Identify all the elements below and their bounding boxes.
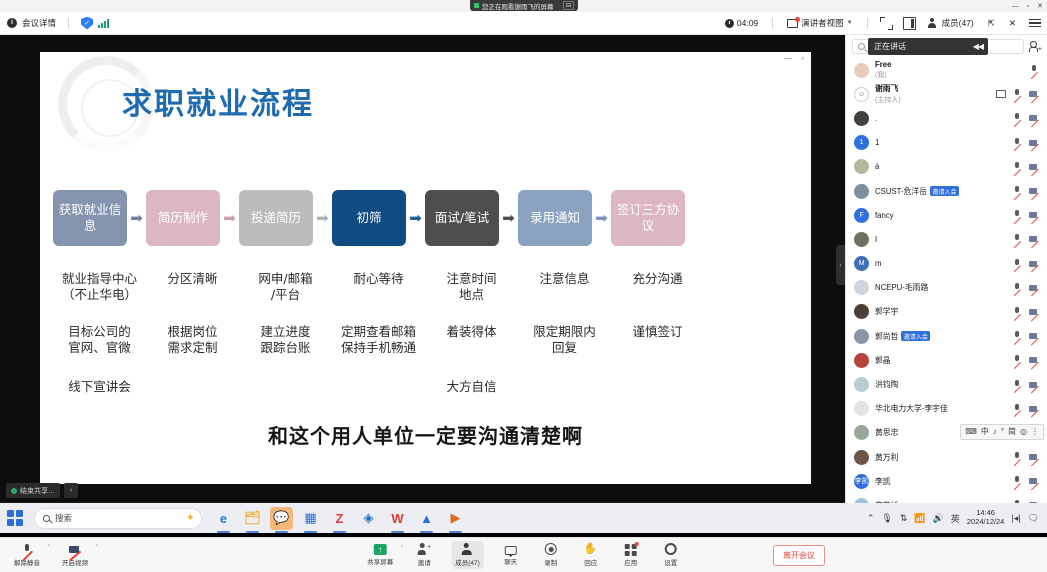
participant-name-wrap: 郭学宇 bbox=[875, 306, 1006, 317]
close-panel-icon[interactable]: ✕ bbox=[1002, 18, 1023, 29]
participant-row[interactable]: Mm bbox=[846, 252, 1047, 276]
divider bbox=[867, 18, 868, 29]
camera-off-icon[interactable] bbox=[1029, 162, 1040, 172]
note-r2-c3: 建立进度跟踪台账 bbox=[239, 324, 332, 357]
note-r2-c6: 限定期限内回复 bbox=[518, 324, 611, 357]
tencent-meeting-icon[interactable]: ▦ bbox=[299, 507, 322, 530]
mic-off-icon[interactable] bbox=[1012, 259, 1023, 269]
mic-off-icon[interactable] bbox=[1012, 380, 1023, 390]
flow-step-4: 初筛 bbox=[332, 190, 406, 246]
copilot-icon[interactable]: ✦ bbox=[186, 513, 195, 524]
note-r2-c2: 根据岗位需求定制 bbox=[146, 324, 239, 357]
note-r3-c6 bbox=[518, 379, 611, 395]
chevron-up-icon[interactable]: ⌃ bbox=[47, 544, 51, 550]
camera-off-icon[interactable] bbox=[1029, 138, 1040, 148]
participant-name-wrap: fancy bbox=[875, 211, 1006, 220]
participant-name: 谢雨飞 bbox=[875, 83, 898, 94]
participant-name: fancy bbox=[875, 211, 894, 220]
tray-chevron-icon[interactable]: ⌃ bbox=[867, 513, 875, 524]
participant-name-wrap: 李凯 bbox=[875, 476, 1006, 487]
avatar bbox=[854, 353, 869, 368]
note-r1-c5: 注意时间地点 bbox=[425, 271, 518, 304]
participant-row[interactable]: Free(我) bbox=[846, 58, 1047, 82]
speaking-tooltip-text: 正在讲话 bbox=[874, 41, 906, 52]
participant-name: 黄思忠 bbox=[875, 427, 898, 438]
avatar bbox=[854, 377, 869, 392]
process-flow-row: 获取就业信息➡简历制作➡投递简历➡初筛➡面试/笔试➡录用通知➡签订三方协议 bbox=[53, 190, 798, 246]
microphone-icon[interactable]: 🎙 bbox=[881, 513, 892, 524]
ime-key-3[interactable]: ♪ bbox=[993, 428, 997, 436]
avatar: F bbox=[854, 208, 869, 223]
info-icon[interactable]: i bbox=[7, 18, 17, 28]
screen-share-toast: 您正在观看谢雨飞的屏幕 ⊟ bbox=[470, 0, 578, 11]
divider bbox=[772, 18, 773, 29]
windows-start-icon[interactable] bbox=[7, 510, 24, 527]
top-bar-right: 04:09 演讲者视图 ▼ 成员(47) ⇱ ✕ bbox=[718, 17, 1047, 30]
participant-row[interactable]: NCEPU-毛雨路 bbox=[846, 276, 1047, 300]
participant-row[interactable]: 洪钧陶 bbox=[846, 372, 1047, 396]
participant-name: à bbox=[875, 162, 879, 171]
participant-status-icons bbox=[1012, 283, 1040, 293]
wps-icon[interactable]: W bbox=[386, 507, 409, 530]
participant-name-wrap: 华北电力大学-李宇佳 bbox=[875, 403, 1006, 414]
ime-indicator[interactable]: 英 bbox=[951, 512, 960, 525]
chat-icon bbox=[505, 546, 517, 555]
settings-gear-icon bbox=[664, 543, 678, 556]
toolbar-label: 邀请 bbox=[418, 557, 431, 567]
ime-floating-toolbar[interactable]: ⌨中♪°简◎⋮ bbox=[960, 424, 1044, 440]
participant-row[interactable]: Ffancy bbox=[846, 203, 1047, 227]
participant-status-icons bbox=[1012, 113, 1040, 123]
menu-icon[interactable] bbox=[1029, 19, 1041, 27]
note-r1-c1: 就业指导中心（不止华电） bbox=[53, 271, 146, 304]
flow-step-2: 简历制作 bbox=[146, 190, 220, 246]
flow-step-5: 面试/笔试 bbox=[425, 190, 499, 246]
note-r3-c4 bbox=[332, 379, 425, 395]
flow-arrow-icon: ➡ bbox=[406, 211, 425, 226]
meeting-toolbar: 解除静音⌃开启视频⌃ 共享屏幕⌃+邀请成员(47)聊天录制✋回应应用设置 离开会… bbox=[0, 537, 1047, 572]
outlook-icon[interactable]: ◈ bbox=[357, 507, 380, 530]
note-r3-c7 bbox=[611, 379, 704, 395]
avatar bbox=[854, 425, 869, 440]
top-bar-left: i 会议详情 bbox=[0, 17, 109, 30]
app-glyph: e bbox=[220, 511, 227, 526]
tray-date: 2024/12/24 bbox=[967, 517, 1005, 526]
participant-role: (主持人) bbox=[875, 97, 990, 105]
participant-name: I bbox=[875, 235, 877, 244]
participant-name: 华北电力大学-李宇佳 bbox=[875, 403, 948, 414]
app-glyph: ▦ bbox=[304, 510, 316, 526]
toolbar-chat[interactable]: 聊天 bbox=[498, 543, 524, 568]
participant-status-icons bbox=[1012, 476, 1040, 486]
chevron-up-icon[interactable]: ⌃ bbox=[95, 544, 99, 550]
app-glyph: ◈ bbox=[364, 510, 374, 526]
fullscreen-icon[interactable] bbox=[880, 17, 893, 30]
speaker-view-icon bbox=[787, 19, 798, 28]
participant-name: . bbox=[875, 114, 877, 123]
close-button[interactable]: ✕ bbox=[1037, 3, 1043, 10]
participant-row[interactable]: 11 bbox=[846, 131, 1047, 155]
mic-off-icon[interactable] bbox=[1012, 162, 1023, 172]
app-glyph: ▲ bbox=[420, 511, 433, 526]
taskbar-app-list: e🗂💬▦Z◈W▲▶ bbox=[212, 507, 467, 530]
notes-row-1: 就业指导中心（不止华电）分区清晰网申/邮箱/平台耐心等待注意时间地点注意信息充分… bbox=[53, 271, 798, 304]
notification-dot-icon bbox=[635, 542, 639, 546]
toolbar-reaction[interactable]: ✋回应 bbox=[578, 541, 604, 569]
toolbar-video-off[interactable]: 开启视频⌃ bbox=[58, 541, 92, 569]
chevron-up-icon[interactable]: ⌃ bbox=[400, 545, 404, 551]
participants-panel: + 正在讲话 ◀◀ Free(我)☺谢雨飞(主持人).11àCSUST-危洋岳邀… bbox=[845, 35, 1047, 537]
toolbar-members[interactable]: 成员(47) bbox=[451, 541, 484, 569]
camera-off-icon[interactable] bbox=[1029, 259, 1040, 269]
mic-off-icon[interactable] bbox=[1012, 452, 1023, 462]
slide-window-controls: — ▫ bbox=[40, 52, 811, 65]
participant-name-wrap: . bbox=[875, 114, 1006, 123]
flow-arrow-icon: ➡ bbox=[127, 211, 146, 226]
search-icon bbox=[858, 43, 865, 50]
camera-off-icon[interactable] bbox=[1029, 186, 1040, 196]
share-status-dot-icon bbox=[11, 488, 17, 494]
participant-status-icons bbox=[1012, 138, 1040, 148]
camera-off-icon[interactable] bbox=[1029, 476, 1040, 486]
stage-footer: 结束共享… ‹ bbox=[6, 483, 78, 498]
avatar bbox=[854, 184, 869, 199]
members-top-label: 成员(47) bbox=[942, 17, 974, 29]
participant-name-wrap: 谢雨飞(主持人) bbox=[875, 83, 990, 105]
camera-off-icon[interactable] bbox=[1029, 210, 1040, 220]
participant-status-icons bbox=[1012, 380, 1040, 390]
invite-icon: + bbox=[417, 543, 431, 556]
ime-key-1[interactable]: ⌨ bbox=[965, 428, 977, 436]
note-r3-c5: 大方自信 bbox=[425, 379, 518, 395]
meeting-details-label[interactable]: 会议详情 bbox=[22, 17, 56, 29]
participant-name: CSUST-危洋岳 bbox=[875, 186, 927, 197]
view-mode-selector[interactable]: 演讲者视图 ▼ bbox=[780, 17, 859, 29]
add-member-icon[interactable]: + bbox=[1029, 41, 1041, 53]
participant-role: (我) bbox=[875, 72, 1023, 80]
avatar bbox=[854, 401, 869, 416]
toolbar-label: 聊天 bbox=[504, 556, 517, 566]
ime-key-6[interactable]: ◎ bbox=[1020, 428, 1027, 436]
timer-text: 04:09 bbox=[737, 18, 758, 28]
note-r2-c4: 定期查看邮箱保持手机畅通 bbox=[332, 324, 425, 357]
mic-off-icon[interactable] bbox=[1012, 89, 1023, 99]
toolbar-label: 开启视频 bbox=[62, 557, 88, 567]
participant-name-wrap: CSUST-危洋岳邀请入会 bbox=[875, 186, 1006, 197]
participant-status-icons bbox=[1012, 234, 1040, 244]
notes-row-3: 线下宣讲会大方自信 bbox=[53, 379, 798, 395]
avatar: 李凯 bbox=[854, 474, 869, 489]
mic-off-icon bbox=[20, 543, 34, 556]
toolbar-label: 录制 bbox=[544, 557, 557, 567]
leave-meeting-button[interactable]: 离开会议 bbox=[773, 545, 825, 566]
camera-off-icon[interactable] bbox=[1029, 331, 1040, 341]
video-off-icon bbox=[68, 543, 82, 556]
taskbar-search-placeholder: 搜索 bbox=[55, 512, 72, 524]
ime-key-5[interactable]: 简 bbox=[1008, 428, 1016, 436]
mic-off-icon[interactable] bbox=[1012, 476, 1023, 486]
toolbar-label: 解除静音 bbox=[14, 557, 40, 567]
windows-taskbar: 搜索 ✦ e🗂💬▦Z◈W▲▶ ⌃ 🎙 ⇅ 📶 🔊 英 14:46 2024/12… bbox=[0, 503, 1047, 533]
participant-name: 郭学宇 bbox=[875, 306, 898, 317]
camera-off-icon[interactable] bbox=[1029, 307, 1040, 317]
participant-status-icons bbox=[1012, 355, 1040, 365]
participant-row[interactable]: . bbox=[846, 106, 1047, 130]
note-r1-c6: 注意信息 bbox=[518, 271, 611, 304]
file-explorer-icon[interactable]: 🗂 bbox=[241, 507, 264, 530]
participant-name: Free bbox=[875, 60, 891, 69]
mic-off-icon[interactable] bbox=[1012, 404, 1023, 414]
toolbar-invite[interactable]: +邀请 bbox=[411, 541, 437, 569]
ime-key-4[interactable]: ° bbox=[1001, 428, 1004, 436]
participant-status-icons bbox=[1012, 452, 1040, 462]
app-glyph: 💬 bbox=[273, 510, 289, 526]
notification-icon[interactable]: 🗨 bbox=[1028, 513, 1039, 524]
flow-step-7: 签订三方协议 bbox=[611, 190, 685, 246]
camera-off-icon[interactable] bbox=[1029, 452, 1040, 462]
participant-row[interactable]: ☺谢雨飞(主持人) bbox=[846, 82, 1047, 106]
note-r2-c5: 着装得体 bbox=[425, 324, 518, 357]
camera-off-icon[interactable] bbox=[1029, 283, 1040, 293]
participant-name: m bbox=[875, 259, 882, 268]
participant-name: 洪钧陶 bbox=[875, 379, 898, 390]
flow-arrow-icon: ➡ bbox=[220, 211, 239, 226]
flow-arrow-icon: ➡ bbox=[592, 211, 611, 226]
clock-area[interactable]: 14:46 2024/12/24 bbox=[967, 509, 1005, 526]
mic-off-icon[interactable] bbox=[1012, 138, 1023, 148]
search-icon bbox=[43, 515, 50, 522]
note-r2-c7: 谨慎签订 bbox=[611, 324, 704, 357]
slide-maximize-icon[interactable]: ▫ bbox=[801, 54, 804, 63]
note-r3-c1: 线下宣讲会 bbox=[53, 379, 146, 395]
participant-status-icons bbox=[1012, 186, 1040, 196]
participant-row[interactable]: 李凯李凯 bbox=[846, 469, 1047, 493]
camera-off-icon[interactable] bbox=[1029, 355, 1040, 365]
slide-caption: 和这个用人单位一定要沟通清楚啊 bbox=[40, 420, 811, 449]
avatar bbox=[854, 280, 869, 295]
note-r1-c3: 网申/邮箱/平台 bbox=[239, 271, 332, 304]
participant-row[interactable]: 郭晶 bbox=[846, 348, 1047, 372]
note-r1-c7: 充分沟通 bbox=[611, 271, 704, 304]
toolbar-record[interactable]: 录制 bbox=[538, 541, 564, 569]
mic-off-icon[interactable] bbox=[1012, 283, 1023, 293]
camera-off-icon[interactable] bbox=[1029, 113, 1040, 123]
note-r1-c2: 分区清晰 bbox=[146, 271, 239, 304]
toolbar-center-group: 共享屏幕⌃+邀请成员(47)聊天录制✋回应应用设置 bbox=[363, 541, 684, 569]
members-icon bbox=[928, 18, 939, 28]
avatar bbox=[854, 329, 869, 344]
note-r2-c1: 目标公司的官网、官微 bbox=[53, 324, 146, 357]
share-toast-text: 您正在观看谢雨飞的屏幕 bbox=[482, 1, 554, 11]
toolbar-share-screen[interactable]: 共享屏幕⌃ bbox=[363, 542, 397, 568]
avatar bbox=[854, 111, 869, 126]
mic-off-icon[interactable] bbox=[1029, 65, 1040, 75]
participant-name: 郭晶 bbox=[875, 355, 891, 366]
popout-icon[interactable]: ⇱ bbox=[981, 18, 1002, 29]
participant-row[interactable]: 郭学宇 bbox=[846, 300, 1047, 324]
participant-name-wrap: NCEPU-毛雨路 bbox=[875, 282, 1006, 293]
collapse-panel-handle[interactable]: ‹ bbox=[836, 245, 845, 285]
system-tray: ⌃ 🎙 ⇅ 📶 🔊 英 14:46 2024/12/24 |◂| 🗨 bbox=[867, 509, 1047, 526]
mic-off-icon[interactable] bbox=[1012, 307, 1023, 317]
invite-badge: 邀请入会 bbox=[930, 186, 959, 196]
minimize-button[interactable]: — bbox=[1012, 3, 1019, 10]
slide-title: 求职就业流程 bbox=[122, 79, 314, 123]
taskbar-search-box[interactable]: 搜索 ✦ bbox=[34, 508, 202, 529]
view-mode-label: 演讲者视图 bbox=[801, 17, 844, 29]
avatar bbox=[854, 232, 869, 247]
stop-share-button[interactable]: 结束共享… bbox=[6, 483, 60, 498]
meeting-window: — ▫ ✕ i 会议详情 04:09 演讲者视图 bbox=[0, 0, 1047, 537]
shield-check-icon[interactable] bbox=[81, 17, 93, 30]
zhihu-icon[interactable]: Z bbox=[328, 507, 351, 530]
avatar: ☺ bbox=[854, 87, 869, 102]
collapse-toast-icon[interactable]: ⊟ bbox=[563, 1, 574, 10]
reaction-icon: ✋ bbox=[584, 543, 598, 556]
flow-step-3: 投递简历 bbox=[239, 190, 313, 246]
share-screen-icon bbox=[374, 544, 387, 555]
baidu-netdisk-icon[interactable]: ▲ bbox=[415, 507, 438, 530]
slide-minimize-icon[interactable]: — bbox=[784, 54, 792, 63]
participant-row[interactable]: 郭尚哲邀请入会 bbox=[846, 324, 1047, 348]
participant-name: 黄万利 bbox=[875, 452, 898, 463]
avatar bbox=[854, 63, 869, 78]
toolbar-label: 应用 bbox=[624, 557, 637, 567]
side-panel-icon[interactable] bbox=[903, 17, 916, 30]
participant-name-wrap: m bbox=[875, 259, 1006, 268]
note-r3-c2 bbox=[146, 379, 239, 395]
mic-off-icon[interactable] bbox=[1012, 331, 1023, 341]
ime-key-2[interactable]: 中 bbox=[981, 428, 989, 436]
flow-step-6: 录用通知 bbox=[518, 190, 592, 246]
participant-status-icons bbox=[1012, 162, 1040, 172]
app-glyph: Z bbox=[336, 511, 344, 526]
mic-off-icon[interactable] bbox=[1012, 186, 1023, 196]
participant-name: 李凯 bbox=[875, 476, 891, 487]
signal-strength-icon[interactable] bbox=[98, 18, 109, 28]
participant-status-icons bbox=[996, 89, 1040, 99]
mic-off-icon[interactable] bbox=[1012, 210, 1023, 220]
participant-status-icons bbox=[1012, 259, 1040, 269]
ime-key-7[interactable]: ⋮ bbox=[1031, 428, 1039, 436]
screen-root: — ▫ ✕ i 会议详情 04:09 演讲者视图 bbox=[0, 0, 1047, 572]
maximize-button[interactable]: ▫ bbox=[1027, 3, 1029, 10]
participant-status-icons bbox=[1012, 210, 1040, 220]
participant-name-wrap: 1 bbox=[875, 138, 1006, 147]
recording-dot-icon bbox=[474, 3, 479, 8]
app-glyph: ▶ bbox=[451, 510, 461, 526]
avatar bbox=[854, 304, 869, 319]
toolbar-label: 共享屏幕 bbox=[367, 556, 393, 566]
participant-name-wrap: 郭尚哲邀请入会 bbox=[875, 331, 1006, 342]
participant-name-wrap: 洪钧陶 bbox=[875, 379, 1006, 390]
note-r3-c3 bbox=[239, 379, 332, 395]
participant-status-icons bbox=[1012, 307, 1040, 317]
mic-off-icon[interactable] bbox=[1012, 234, 1023, 244]
network-icon[interactable]: 📶 bbox=[914, 513, 925, 524]
app-glyph: W bbox=[391, 511, 403, 526]
meeting-timer: 04:09 bbox=[718, 18, 765, 28]
toolbar-left-group: 解除静音⌃开启视频⌃ bbox=[0, 541, 92, 569]
flow-arrow-icon: ➡ bbox=[499, 211, 518, 226]
avatar bbox=[854, 159, 869, 174]
presentation-slide: — ▫ 求职就业流程 获取就业信息➡简历制作➡投递简历➡初筛➡面试/笔试➡录用通… bbox=[40, 52, 811, 484]
toolbar-label: 成员(47) bbox=[455, 557, 480, 567]
sliders-icon[interactable]: ⇅ bbox=[900, 513, 908, 524]
toolbar-label: 设置 bbox=[664, 557, 677, 567]
record-icon bbox=[544, 543, 558, 556]
participant-name: 1 bbox=[875, 138, 879, 147]
participant-name-wrap: I bbox=[875, 235, 1006, 244]
speaking-tooltip: 正在讲话 ◀◀ bbox=[868, 38, 988, 55]
participant-row[interactable]: I bbox=[846, 227, 1047, 251]
chevron-down-icon: ▼ bbox=[847, 20, 853, 26]
participant-name-wrap: 郭晶 bbox=[875, 355, 1006, 366]
media-player-icon[interactable]: ▶ bbox=[444, 507, 467, 530]
participant-row[interactable]: à bbox=[846, 155, 1047, 179]
apps-icon bbox=[624, 543, 638, 556]
avatar: 1 bbox=[854, 135, 869, 150]
tooltip-chevrons-icon: ◀◀ bbox=[973, 42, 988, 51]
flow-arrow-icon: ➡ bbox=[313, 211, 332, 226]
members-top-button[interactable]: 成员(47) bbox=[921, 17, 981, 29]
notes-row-2: 目标公司的官网、官微根据岗位需求定制建立进度跟踪台账定期查看邮箱保持手机畅通着装… bbox=[53, 324, 798, 357]
stop-share-label: 结束共享… bbox=[20, 486, 55, 496]
camera-off-icon[interactable] bbox=[1029, 380, 1040, 390]
note-r1-c4: 耐心等待 bbox=[332, 271, 425, 304]
toolbar-settings-gear[interactable]: 设置 bbox=[658, 541, 684, 569]
screen-share-icon[interactable] bbox=[996, 90, 1006, 98]
flow-step-1: 获取就业信息 bbox=[53, 190, 127, 246]
camera-off-icon[interactable] bbox=[1029, 234, 1040, 244]
invite-badge: 邀请入会 bbox=[901, 331, 930, 341]
participant-row[interactable]: 黄万利 bbox=[846, 445, 1047, 469]
participant-row[interactable]: 华北电力大学-李宇佳 bbox=[846, 397, 1047, 421]
participant-name-wrap: Free(我) bbox=[875, 60, 1023, 80]
volume-icon[interactable]: 🔊 bbox=[933, 513, 944, 524]
toolbar-apps[interactable]: 应用 bbox=[618, 541, 644, 569]
camera-off-icon[interactable] bbox=[1029, 404, 1040, 414]
participant-name: 郭尚哲 bbox=[875, 331, 898, 342]
camera-off-icon[interactable] bbox=[1029, 89, 1040, 99]
toolbar-label: 回应 bbox=[584, 557, 597, 567]
participant-status-icons bbox=[1029, 65, 1040, 75]
participant-name-wrap: à bbox=[875, 162, 1006, 171]
shared-screen-stage: — ▫ 求职就业流程 获取就业信息➡简历制作➡投递简历➡初筛➡面试/笔试➡录用通… bbox=[0, 35, 845, 502]
divider bbox=[68, 18, 69, 29]
participant-row[interactable]: CSUST-危洋岳邀请入会 bbox=[846, 179, 1047, 203]
members-icon bbox=[461, 543, 475, 556]
app-glyph: 🗂 bbox=[244, 510, 261, 526]
participant-name: NCEPU-毛雨路 bbox=[875, 282, 928, 293]
wechat-icon[interactable]: 💬 bbox=[270, 507, 293, 530]
meeting-top-bar: i 会议详情 04:09 演讲者视图 ▼ bbox=[0, 12, 1047, 35]
clock-icon bbox=[725, 19, 734, 28]
edge-icon[interactable]: e bbox=[212, 507, 235, 530]
mic-off-icon[interactable] bbox=[1012, 113, 1023, 123]
toolbar-mic-off[interactable]: 解除静音⌃ bbox=[10, 541, 44, 569]
participants-search-row: + 正在讲话 ◀◀ bbox=[846, 35, 1047, 58]
participant-status-icons bbox=[1012, 404, 1040, 414]
stage-prev-button[interactable]: ‹ bbox=[64, 483, 78, 498]
participant-name-wrap: 黄万利 bbox=[875, 452, 1006, 463]
avatar: M bbox=[854, 256, 869, 271]
meeting-tray-icon[interactable]: |◂| bbox=[1011, 513, 1020, 524]
avatar bbox=[854, 450, 869, 465]
mic-off-icon[interactable] bbox=[1012, 355, 1023, 365]
participant-status-icons bbox=[1012, 331, 1040, 341]
